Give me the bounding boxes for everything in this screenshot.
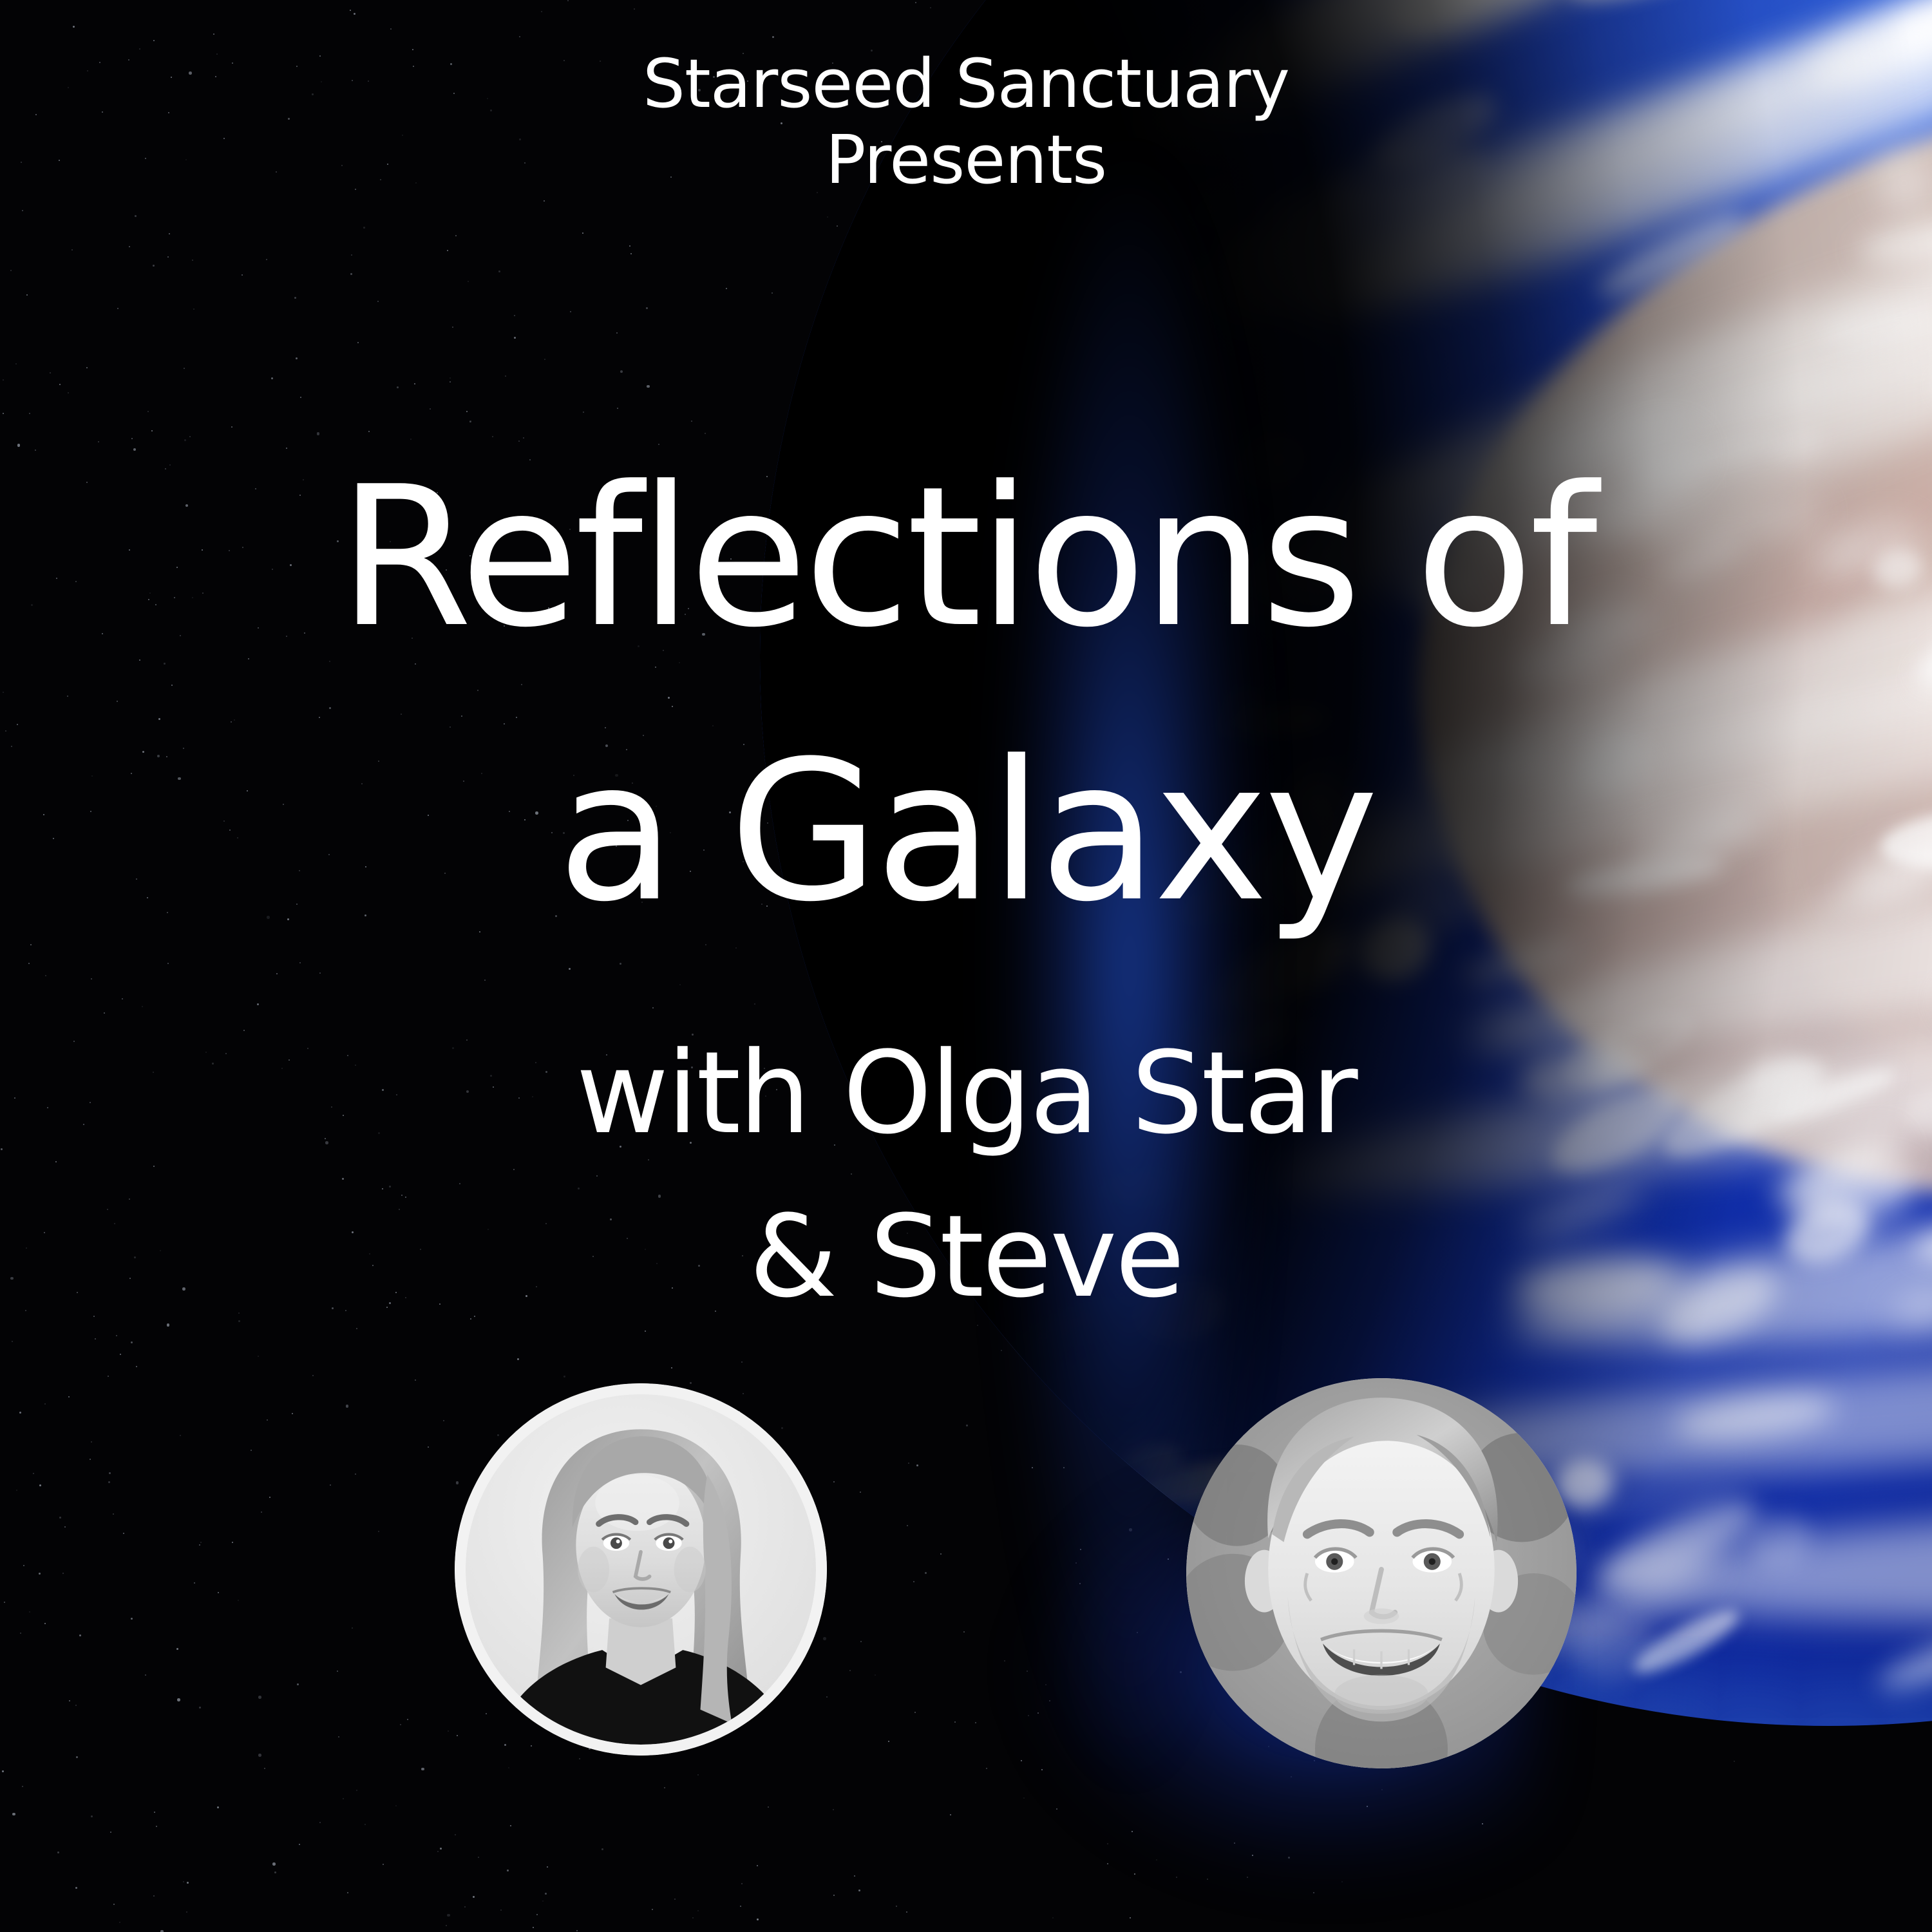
avatar-photo-woman	[466, 1394, 816, 1745]
podcast-cover-art: Starseed Sanctuary Presents Reflections …	[0, 0, 1932, 1932]
avatar-photo-man	[1186, 1378, 1577, 1768]
hosts-line-1: with Olga Star	[0, 1037, 1932, 1150]
text-layer: Starseed Sanctuary Presents Reflections …	[0, 0, 1932, 1932]
hosts-line-2: & Steve	[0, 1200, 1932, 1314]
presenter-line-2: Presents	[0, 126, 1932, 193]
title-line-1: Reflections of	[0, 461, 1932, 654]
presenter-line-1: Starseed Sanctuary	[0, 50, 1932, 117]
avatar-steve	[1186, 1378, 1577, 1768]
title-line-2: a Galaxy	[0, 735, 1932, 929]
avatar-olga-star	[455, 1383, 827, 1756]
